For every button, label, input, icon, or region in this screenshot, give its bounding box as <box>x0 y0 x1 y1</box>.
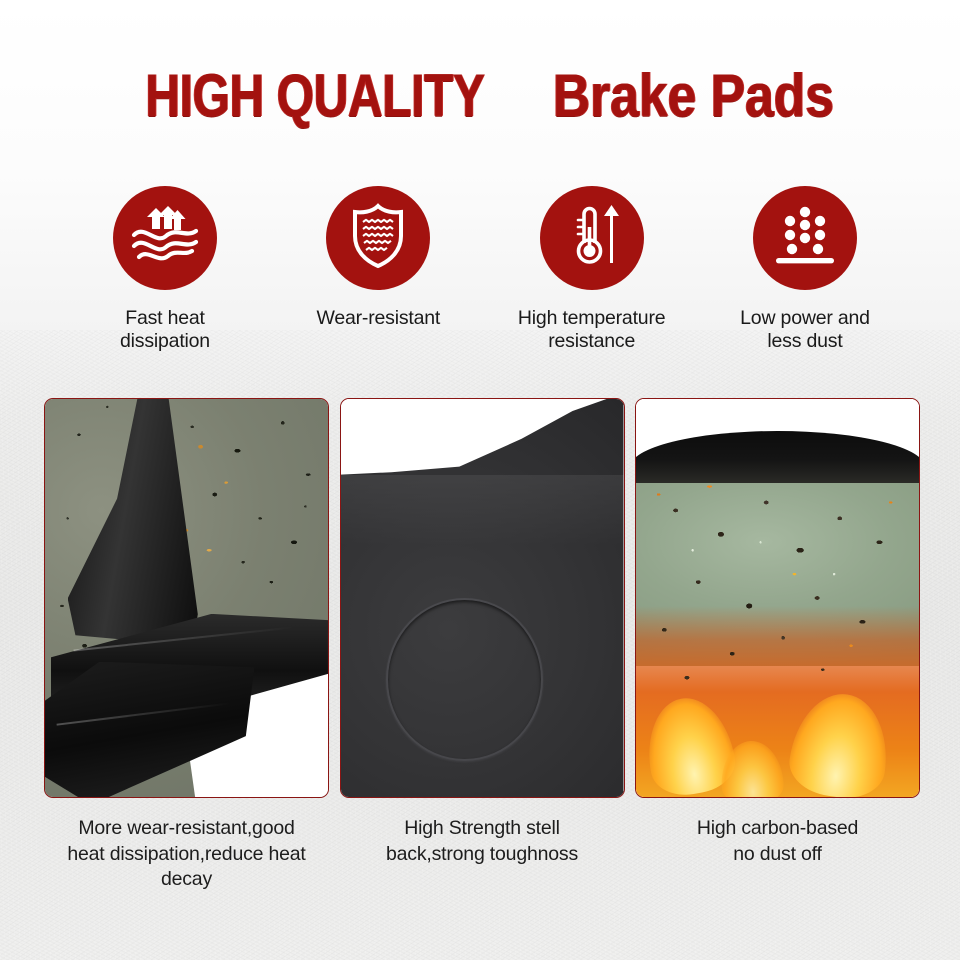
feature-label-line: Wear-resistant <box>317 307 441 330</box>
caption-line: back,strong toughnoss <box>332 842 632 868</box>
thermometer-arrow-icon <box>561 203 623 274</box>
product-image-panel-2 <box>340 398 625 798</box>
feature-icon-badge <box>326 186 430 290</box>
feature-label-line: resistance <box>518 330 665 353</box>
caption-line: More wear-resistant,good <box>37 816 337 842</box>
feature-label: High temperature resistance <box>518 307 665 353</box>
product-image-panel-1 <box>44 398 329 798</box>
feature-item-high-temperature-resistance: High temperature resistance <box>489 186 695 353</box>
panel-caption: More wear-resistant,good heat dissipatio… <box>37 816 337 893</box>
panel-caption: High carbon-based no dust off <box>628 816 928 867</box>
feature-label-line: Low power and <box>740 307 870 330</box>
feature-label: Wear-resistant <box>317 307 441 330</box>
caption-line: decay <box>37 867 337 893</box>
steel-backing-plate-photo <box>341 399 624 797</box>
caption-line: heat dissipation,reduce heat <box>37 842 337 868</box>
panel-column: More wear-resistant,good heat dissipatio… <box>44 398 329 893</box>
brake-pad-stack-photo <box>45 399 328 797</box>
heat-waves-arrows-icon <box>130 205 200 272</box>
caption-line: High carbon-based <box>628 816 928 842</box>
page-title: HIGH QUALITY Brake Pads <box>0 66 960 126</box>
caption-line: no dust off <box>628 842 928 868</box>
panel-caption: High Strength stell back,strong toughnos… <box>332 816 632 867</box>
feature-label: Low power and less dust <box>740 307 870 353</box>
title-regular: Brake Pads <box>553 66 834 126</box>
friction-material-flames-photo <box>636 399 919 797</box>
feature-item-wear-resistant: Wear-resistant <box>275 186 481 353</box>
feature-label-line: High temperature <box>518 307 665 330</box>
feature-label-line: Fast heat <box>120 307 210 330</box>
infographic-page: HIGH QUALITY Brake Pads <box>0 0 960 960</box>
product-image-panel-3 <box>635 398 920 798</box>
title-strong: HIGH QUALITY <box>146 66 485 126</box>
dust-particles-icon <box>772 205 838 272</box>
feature-icon-badge <box>113 186 217 290</box>
panel-column: High carbon-based no dust off <box>635 398 920 893</box>
feature-label-line: dissipation <box>120 330 210 353</box>
shield-icon <box>348 203 408 274</box>
caption-line: High Strength stell <box>332 816 632 842</box>
feature-label: Fast heat dissipation <box>120 307 210 353</box>
feature-item-low-power-less-dust: Low power and less dust <box>702 186 908 353</box>
product-photo-panels: More wear-resistant,good heat dissipatio… <box>44 398 920 893</box>
feature-list: Fast heat dissipation <box>62 186 908 353</box>
panel-column: High Strength stell back,strong toughnos… <box>340 398 625 893</box>
feature-item-fast-heat-dissipation: Fast heat dissipation <box>62 186 268 353</box>
feature-label-line: less dust <box>740 330 870 353</box>
feature-icon-badge <box>753 186 857 290</box>
feature-icon-badge <box>540 186 644 290</box>
